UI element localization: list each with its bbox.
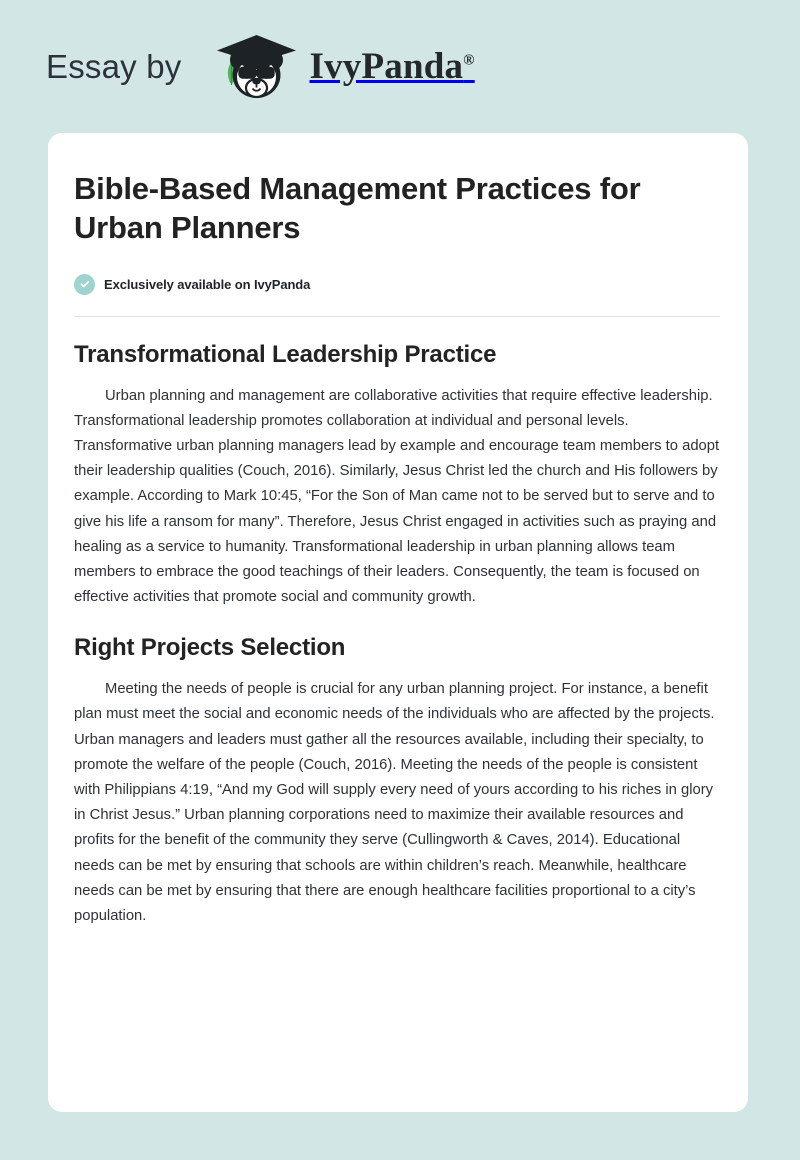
registered-mark: ®: [463, 53, 474, 69]
status-badge-label: Exclusively available on IvyPanda: [104, 278, 310, 291]
page-header: Essay by: [0, 0, 800, 133]
ivypanda-brand-logo[interactable]: IvyPanda®: [204, 31, 475, 103]
essay-by-label: Essay by: [46, 50, 182, 83]
section-heading: Right Projects Selection: [74, 634, 722, 663]
header-divider: [74, 316, 720, 317]
section-paragraph: Urban planning and management are collab…: [74, 384, 722, 611]
page-title: Bible-Based Management Practices for Urb…: [74, 169, 699, 248]
section-transformational-leadership: Transformational Leadership Practice Urb…: [74, 341, 722, 611]
status-badge: Exclusively available on IvyPanda: [74, 274, 722, 295]
check-circle-icon: [74, 274, 95, 295]
brand-name-text: IvyPanda: [310, 46, 464, 87]
section-heading: Transformational Leadership Practice: [74, 341, 722, 370]
panda-graduate-icon: [204, 31, 300, 103]
document-card: Bible-Based Management Practices for Urb…: [48, 133, 748, 1112]
section-paragraph: Meeting the needs of people is crucial f…: [74, 677, 722, 929]
section-right-projects-selection: Right Projects Selection Meeting the nee…: [74, 634, 722, 929]
brand-wordmark: IvyPanda®: [310, 48, 475, 85]
